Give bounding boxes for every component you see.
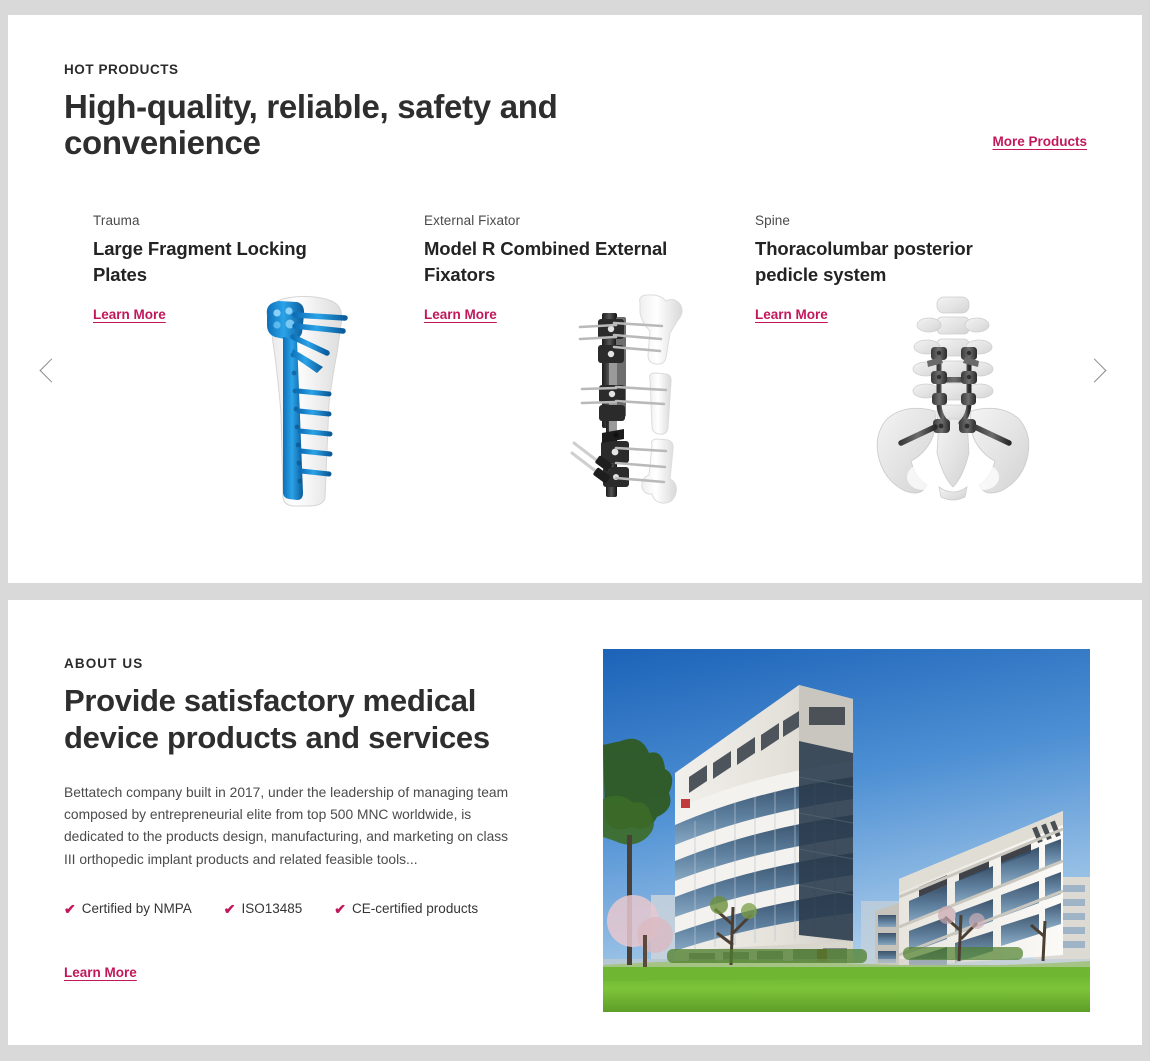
product-category: External Fixator [424,213,737,228]
certification-label: CE-certified products [352,901,478,916]
products-eyebrow: HOT PRODUCTS [64,62,1142,77]
product-category: Spine [755,213,1068,228]
check-icon: ✔ [334,902,346,916]
product-card-list: Trauma Large Fragment Locking Plates Lea… [8,213,1142,513]
company-campus-photo [603,649,1090,1012]
about-body-text: Bettatech company built in 2017, under t… [64,782,520,871]
more-products-link[interactable]: More Products [992,134,1087,149]
chevron-left-icon [39,358,63,382]
check-icon: ✔ [64,902,76,916]
about-us-section: ABOUT US Provide satisfactory medical de… [8,600,1142,1045]
external-fixator-image [566,293,691,513]
certification-label: Certified by NMPA [82,901,192,916]
certification-list: ✔ Certified by NMPA ✔ ISO13485 ✔ CE-cert… [64,901,568,916]
product-category: Trauma [93,213,406,228]
product-learn-more-link[interactable]: Learn More [424,307,497,322]
check-icon: ✔ [224,902,236,916]
carousel-prev-button[interactable] [36,356,66,386]
tibial-locking-plate-image [253,293,358,513]
certification-item: ✔ Certified by NMPA [64,901,192,916]
page-root: HOT PRODUCTS High-quality, reliable, saf… [0,0,1150,1061]
hot-products-section: HOT PRODUCTS High-quality, reliable, saf… [8,15,1142,583]
certification-item: ✔ CE-certified products [334,901,478,916]
product-card[interactable]: Spine Thoracolumbar posterior pedicle sy… [755,213,1086,513]
product-learn-more-link[interactable]: Learn More [755,307,828,322]
products-headline: High-quality, reliable, safety and conve… [64,89,624,160]
about-learn-more-link[interactable]: Learn More [64,965,137,980]
pedicle-screw-spine-image [865,291,1040,508]
certification-item: ✔ ISO13485 [224,901,303,916]
carousel-next-button[interactable] [1084,356,1114,386]
about-headline: Provide satisfactory medical device prod… [64,683,534,757]
chevron-right-icon [1082,358,1106,382]
product-card[interactable]: External Fixator Model R Combined Extern… [424,213,755,513]
certification-label: ISO13485 [242,901,303,916]
product-learn-more-link[interactable]: Learn More [93,307,166,322]
product-title: Large Fragment Locking Plates [93,236,358,287]
about-text-column: ABOUT US Provide satisfactory medical de… [8,656,568,1045]
product-card[interactable]: Trauma Large Fragment Locking Plates Lea… [93,213,424,513]
about-eyebrow: ABOUT US [64,656,568,671]
product-title: Model R Combined External Fixators [424,236,689,287]
product-title: Thoracolumbar posterior pedicle system [755,236,1020,287]
